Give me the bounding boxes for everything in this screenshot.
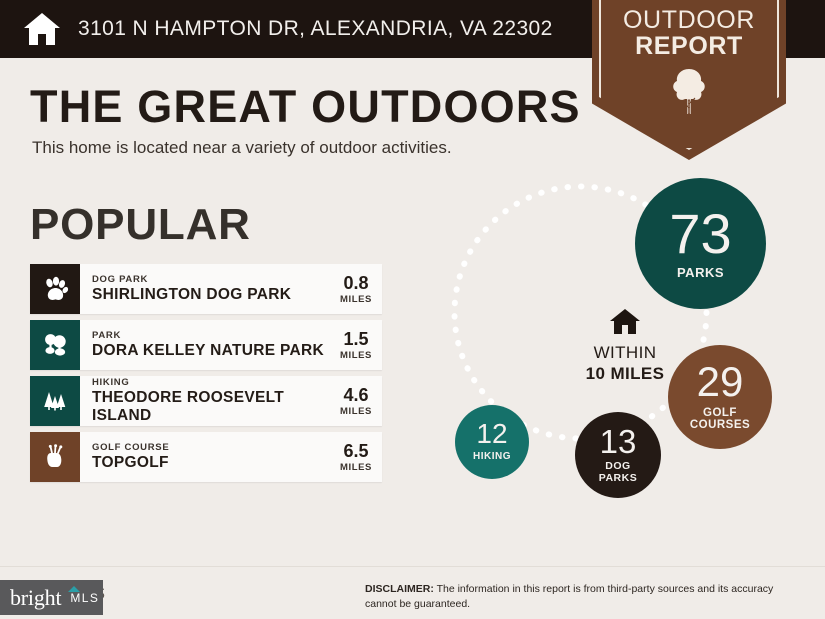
- list-item-icon-tile: [30, 376, 80, 426]
- diagram-center: WITHIN 10 MILES: [560, 308, 690, 384]
- distance-value: 1.5: [343, 330, 368, 348]
- popular-list: DOG PARK SHIRLINGTON DOG PARK 0.8 MILES …: [30, 264, 382, 488]
- distance-unit: MILES: [340, 350, 372, 361]
- disclaimer-label: DISCLAIMER:: [365, 583, 434, 595]
- disclaimer: DISCLAIMER: The information in this repo…: [365, 582, 795, 612]
- list-item[interactable]: HIKING THEODORE ROOSEVELT ISLAND 4.6 MIL…: [30, 376, 382, 426]
- popular-heading: POPULAR: [30, 200, 251, 250]
- bubble-dogparks-value: 13: [600, 426, 637, 457]
- list-item-body: DOG PARK SHIRLINGTON DOG PARK: [80, 264, 334, 314]
- diagram-center-radius: 10 MILES: [560, 364, 690, 384]
- title-block: THE GREAT OUTDOORS This home is located …: [30, 84, 581, 158]
- list-item-body: GOLF COURSE TOPGOLF: [80, 432, 334, 482]
- property-address: 3101 N HAMPTON DR, ALEXANDRIA, VA 22302: [78, 17, 553, 41]
- list-item-category: GOLF COURSE: [92, 443, 334, 453]
- distance-value: 6.5: [343, 442, 368, 460]
- bubble-hiking[interactable]: 12 HIKING: [455, 405, 529, 479]
- page-subtitle: This home is located near a variety of o…: [32, 138, 581, 158]
- diagram-center-within: WITHIN: [560, 343, 690, 363]
- list-item-body: HIKING THEODORE ROOSEVELT ISLAND: [80, 376, 334, 426]
- page-title: THE GREAT OUTDOORS: [30, 84, 581, 129]
- distance-unit: MILES: [340, 406, 372, 417]
- amenity-bubble-diagram: 73 PARKS 29 GOLF COURSES 13 DOG PARKS 12…: [440, 170, 825, 545]
- bubble-parks-label: PARKS: [677, 266, 724, 280]
- logo-wordmark: bright: [10, 585, 61, 611]
- list-item-distance: 6.5 MILES: [334, 432, 382, 482]
- list-item-name: DORA KELLEY NATURE PARK: [92, 342, 334, 359]
- list-item[interactable]: GOLF COURSE TOPGOLF 6.5 MILES: [30, 432, 382, 482]
- pine-trees-icon: [41, 387, 69, 415]
- bubble-golf-value: 29: [697, 362, 744, 402]
- list-item-category: HIKING: [92, 378, 334, 388]
- list-item-category: PARK: [92, 331, 334, 341]
- list-item-icon-tile: [30, 264, 80, 314]
- list-item-distance: 0.8 MILES: [334, 264, 382, 314]
- bubble-parks-value: 73: [669, 207, 731, 260]
- badge-line-outdoor: OUTDOOR: [592, 6, 786, 35]
- list-item-category: DOG PARK: [92, 275, 334, 285]
- list-item-icon-tile: [30, 320, 80, 370]
- list-item-distance: 4.6 MILES: [334, 376, 382, 426]
- bubble-parks[interactable]: 73 PARKS: [635, 178, 766, 309]
- bubble-golf-label: GOLF COURSES: [690, 407, 750, 432]
- bright-mls-logo: bright MLS: [0, 580, 103, 615]
- list-item-name: THEODORE ROOSEVELT ISLAND: [92, 389, 334, 424]
- bubble-hiking-label: HIKING: [473, 452, 511, 463]
- distance-value: 0.8: [343, 274, 368, 292]
- bubble-dog-parks[interactable]: 13 DOG PARKS: [575, 412, 661, 498]
- bubble-hiking-value: 12: [476, 421, 507, 448]
- logo-mls-text: MLS: [70, 591, 99, 605]
- logo-accent-triangle: [68, 586, 80, 592]
- golf-bag-icon: [41, 443, 69, 471]
- list-item[interactable]: DOG PARK SHIRLINGTON DOG PARK 0.8 MILES: [30, 264, 382, 314]
- home-icon: [609, 308, 641, 336]
- tree-park-icon: [41, 331, 69, 359]
- distance-value: 4.6: [343, 386, 368, 404]
- list-item-body: PARK DORA KELLEY NATURE PARK: [80, 320, 334, 370]
- list-item-distance: 1.5 MILES: [334, 320, 382, 370]
- list-item-icon-tile: [30, 432, 80, 482]
- tree-icon: [668, 66, 710, 116]
- list-item-name: SHIRLINGTON DOG PARK: [92, 286, 334, 303]
- list-item-name: TOPGOLF: [92, 454, 334, 471]
- home-icon: [22, 11, 62, 47]
- distance-unit: MILES: [340, 294, 372, 305]
- outdoor-report-badge: OUTDOOR REPORT: [592, 0, 786, 160]
- distance-unit: MILES: [340, 462, 372, 473]
- paw-icon: [41, 275, 69, 303]
- list-item[interactable]: PARK DORA KELLEY NATURE PARK 1.5 MILES: [30, 320, 382, 370]
- bubble-dogparks-label: DOG PARKS: [599, 461, 637, 484]
- badge-line-report: REPORT: [592, 32, 786, 61]
